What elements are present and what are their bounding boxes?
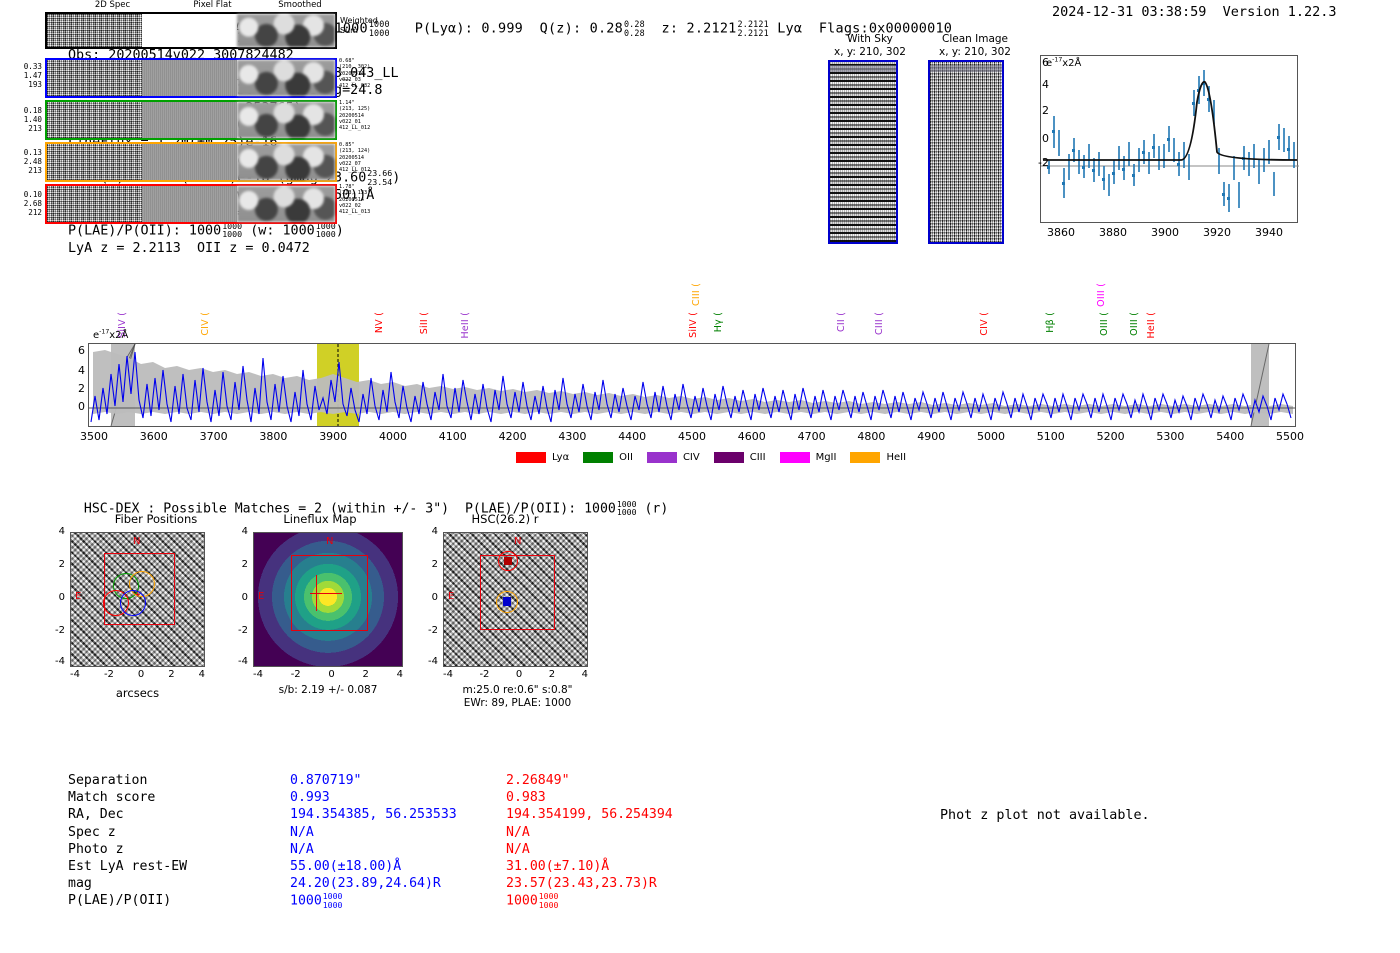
hscdex-header-lo: 1000: [617, 508, 637, 516]
hsc-match-marker-red: [504, 557, 512, 565]
legend-item-mgii: MgII: [780, 452, 837, 463]
mainspec-xtick-5500: 5500: [1265, 430, 1315, 443]
weighted-sum-strip: [45, 12, 337, 49]
hsc-compass-n: N: [514, 536, 521, 547]
hsc-xticks: -4 -2 0 2 4: [443, 669, 588, 680]
zoom-ytick-0: 0: [1027, 132, 1049, 145]
match-table-col-1: 0.870719"0.993194.354385, 56.253533N/AN/…: [290, 772, 457, 910]
header-qz-lo: 0.28: [624, 29, 645, 38]
lineflux-yticks: 4 2 0 -2 -4: [228, 532, 250, 667]
fiber-positions-xticks: -4 -2 0 2 4: [70, 669, 205, 680]
fiber-right-labels-3: 0.85" (213, 124) 20200514 v022_07 412_LL…: [339, 142, 399, 173]
mainspec-xtick-5000: 5000: [966, 430, 1016, 443]
emission-line-label-heii-4: HeII (: [460, 312, 471, 339]
line-fit-plot: e-17x2Å: [1040, 55, 1298, 223]
match-table-col-2: 2.26849"0.983194.354199, 56.254394N/AN/A…: [506, 772, 673, 910]
hsc-caption-2: EWr: 89, PLAE: 1000: [430, 697, 605, 709]
match-table-value: N/A: [290, 841, 457, 858]
match-plae-lo: 1000: [323, 901, 343, 909]
fiber-left-labels-4: 0.10 2.68 212: [2, 190, 42, 217]
header-z-lo: 2.2121: [737, 29, 768, 38]
mainspec-xtick-3600: 3600: [129, 430, 179, 443]
with-sky-title: With Sky x, y: 210, 302: [820, 33, 920, 58]
zoom-ytick-2: 2: [1027, 104, 1049, 117]
zoom-ytick-4: 4: [1027, 78, 1049, 91]
fiber-right-labels-2: 1.14" (213, 125) 20200514 v022_01 412_LL…: [339, 100, 399, 131]
mainspec-xtick-5400: 5400: [1205, 430, 1255, 443]
emission-line-label-oiii-14: OIII (: [1129, 312, 1140, 336]
sky-header-band: [830, 65, 896, 72]
zoom-xtick-3880: 3880: [1093, 226, 1133, 239]
legend-swatch-mgii: [780, 452, 810, 463]
emission-line-label-civ-1: CIV (: [200, 312, 211, 336]
emission-line-label-hβ-11: Hβ (: [1045, 312, 1056, 333]
emission-line-label-civ-10: CIV (: [979, 312, 990, 336]
panel-title-fiber-positions: Fiber Positions: [96, 512, 216, 526]
lineflux-map-image: N E: [253, 532, 403, 667]
fiber-right-labels-1: 0.68" (210, 302) 20200514 v022_03 412_LL…: [339, 58, 399, 89]
match-table-value: 23.57(23.43,23.73)R: [506, 875, 673, 892]
target-marker: +: [135, 590, 140, 600]
fiber-left-labels-2: 0.18 1.40 213: [2, 106, 42, 133]
match-table-value: 2.26849": [506, 772, 673, 789]
spectrum-legend: LyαOIICIVCIIIMgIIHeII: [516, 452, 906, 463]
mainspec-xtick-4900: 4900: [906, 430, 956, 443]
legend-swatch-heii: [850, 452, 880, 463]
fiber-strip-3: [45, 142, 337, 182]
mainspec-xtick-4200: 4200: [488, 430, 538, 443]
emission-line-label-siiv-6: SiIV (: [688, 312, 699, 338]
mainspec-xtick-3900: 3900: [308, 430, 358, 443]
weighted-sum-label: Weighted Sum: [340, 16, 400, 36]
emission-line-label-ciii-9: CIII (: [874, 312, 885, 335]
fiber-strip-1: [45, 58, 337, 98]
mainspec-svg: [89, 344, 1295, 426]
match-table-label: RA, Dec: [68, 806, 187, 823]
zoom-ytick--2: -2: [1027, 156, 1049, 169]
mainspec-ytick-2: 2: [67, 382, 85, 395]
mainspec-xtick-5300: 5300: [1145, 430, 1195, 443]
match-table-label: Match score: [68, 789, 187, 806]
two-d-spectrum-panel: 2D Spec Pixel Flat Smoothed Weighted Sum…: [0, 0, 340, 220]
lineflux-compass-e: E: [258, 591, 264, 602]
match-table-value: N/A: [290, 824, 457, 841]
legend-swatch-oii: [583, 452, 613, 463]
zoom-xtick-3920: 3920: [1197, 226, 1237, 239]
legend-label-oii: OII: [619, 452, 633, 463]
panel-title-hsc-r: HSC(26.2) r: [440, 512, 570, 526]
full-spectrum-axes: e-17x2Å 0 2 4 6: [88, 343, 1296, 427]
mainspec-yunit: e-17x2Å: [93, 330, 128, 341]
match-table-value: 194.354385, 56.253533: [290, 806, 457, 823]
legend-item-heii: HeII: [850, 452, 906, 463]
match-table-value: 24.20(23.89,24.64)R: [290, 875, 457, 892]
emission-line-label-ciii-5: CIII (: [691, 283, 702, 306]
legend-label-lyα: Lyα: [552, 452, 569, 463]
info-redshifts: LyA z = 2.2113 OII z = 0.0472: [68, 240, 400, 257]
header-z: z: 2.2121: [662, 21, 737, 37]
zoom-xtick-3940: 3940: [1249, 226, 1289, 239]
mainspec-xtick-3700: 3700: [189, 430, 239, 443]
emission-line-label-nv-2: NV (: [374, 312, 385, 333]
hsc-r-image: N E: [443, 532, 588, 667]
clean-image: [928, 60, 1004, 244]
zoom-xtick-3900: 3900: [1145, 226, 1185, 239]
emission-line-label-cii-8: CII (: [836, 312, 847, 332]
fiber-strip-2: [45, 100, 337, 140]
mainspec-xtick-3500: 3500: [69, 430, 119, 443]
header-qz: Q(z): 0.28: [540, 21, 623, 37]
emission-line-label-heii-15: HeII (: [1146, 312, 1157, 339]
mainspec-xtick-4700: 4700: [787, 430, 837, 443]
info-plae-pre: P(LAE)/P(OII): 1000: [68, 223, 221, 238]
match-table-label: P(LAE)/P(OII): [68, 892, 187, 909]
mainspec-xtick-5100: 5100: [1026, 430, 1076, 443]
fiber-left-labels-3: 0.13 2.48 213: [2, 148, 42, 175]
info-plae: P(LAE)/P(OII): 100010001000 (w: 10001000…: [68, 222, 400, 240]
clean-header-band: [930, 65, 1002, 72]
hsc-yticks: 4 2 0 -2 -4: [418, 532, 440, 667]
match-table-value: 100010001000: [506, 892, 673, 910]
hsc-caption-1: m:25.0 re:0.6" s:0.8": [430, 684, 605, 696]
header-plya: P(Lyα): 0.999: [415, 21, 523, 37]
mainspec-xticks: 3500360037003800390040004100420043004400…: [0, 430, 1400, 450]
lineflux-xticks: -4 -2 0 2 4: [253, 669, 403, 680]
match-table-label: Spec z: [68, 824, 187, 841]
fiber-positions-image: N E +: [70, 532, 205, 667]
info-plae-post: ): [336, 223, 344, 238]
emission-line-label-siiv-0: SiIV (: [117, 312, 128, 338]
mainspec-xtick-4100: 4100: [428, 430, 478, 443]
match-table-value: 55.00(±18.00)Å: [290, 858, 457, 875]
fiber-positions-xlabel: arcsecs: [70, 686, 205, 700]
emission-line-label-siii-3: SiII (: [419, 312, 430, 334]
zoom-ytick-6: 6: [1027, 56, 1049, 69]
match-table-label: Separation: [68, 772, 187, 789]
info-plae-mid: (w: 1000: [250, 223, 315, 238]
mainspec-ytick-0: 0: [67, 400, 85, 413]
mainspec-xtick-4600: 4600: [727, 430, 777, 443]
timestamp: 2024-12-31 03:38:59 Version 1.22.3: [1052, 4, 1336, 20]
match-table-label: Photo z: [68, 841, 187, 858]
match-table-value: 100010001000: [290, 892, 457, 910]
legend-swatch-lyα: [516, 452, 546, 463]
match-table-value: 0.870719": [290, 772, 457, 789]
match-table-value: N/A: [506, 841, 673, 858]
legend-swatch-ciii: [714, 452, 744, 463]
zoom-xtick-3860: 3860: [1041, 226, 1081, 239]
mainspec-xtick-4000: 4000: [368, 430, 418, 443]
clean-image-title: Clean Image x, y: 210, 302: [920, 33, 1030, 58]
match-table-value: 0.993: [290, 789, 457, 806]
fiber-left-labels: 0.33 1.47 193: [2, 62, 42, 89]
emission-line-label-oiii-13: OIII (: [1099, 312, 1110, 336]
fiber-circle-blue: [120, 590, 146, 616]
match-table-label: mag: [68, 875, 187, 892]
hsc-compass-e: E: [448, 591, 454, 602]
panel-title-lineflux-map: Lineflux Map: [255, 512, 385, 526]
match-plae-lo: 1000: [539, 901, 559, 909]
lineflux-caption: s/b: 2.19 +/- 0.087: [253, 684, 403, 696]
lineflux-compass-n: N: [326, 536, 333, 547]
match-table-value: 0.983: [506, 789, 673, 806]
mainspec-xtick-4500: 4500: [667, 430, 717, 443]
match-table-value: 194.354199, 56.254394: [506, 806, 673, 823]
match-plae-value: 1000: [506, 894, 538, 909]
legend-label-heii: HeII: [886, 452, 906, 463]
legend-label-mgii: MgII: [816, 452, 837, 463]
emission-line-label-oiii-12: OIII (: [1096, 283, 1107, 307]
compass-n-label: N: [133, 536, 140, 547]
hscdex-header-post: (r): [644, 501, 668, 516]
legend-item-oii: OII: [583, 452, 633, 463]
hsc-match-marker-blue: [503, 597, 511, 606]
with-sky-image: [828, 60, 898, 244]
legend-item-lyα: Lyα: [516, 452, 569, 463]
header-z-type: Lyα: [777, 21, 802, 37]
fiber-right-labels-4: 1.78" (213, 133) 20200514 v022_02 412_LL…: [339, 184, 399, 215]
lineflux-crosshair-h: [310, 593, 342, 594]
emission-line-label-hγ-7: Hγ (: [713, 312, 724, 332]
mainspec-ytick-4: 4: [67, 364, 85, 377]
mainspec-xtick-4300: 4300: [547, 430, 597, 443]
legend-item-civ: CIV: [647, 452, 700, 463]
mainspec-xtick-4400: 4400: [607, 430, 657, 443]
fiber-strip-4: [45, 184, 337, 224]
legend-label-civ: CIV: [683, 452, 700, 463]
match-table-value: N/A: [506, 824, 673, 841]
legend-swatch-civ: [647, 452, 677, 463]
photz-message: Phot z plot not available.: [940, 808, 1150, 823]
match-table-label: Est LyA rest-EW: [68, 858, 187, 875]
match-table-row-labels: SeparationMatch scoreRA, DecSpec zPhoto …: [68, 772, 187, 910]
mainspec-xtick-4800: 4800: [846, 430, 896, 443]
mainspec-xtick-5200: 5200: [1086, 430, 1136, 443]
mainspec-xtick-3800: 3800: [248, 430, 298, 443]
fiber-positions-yticks: 4 2 0 -2 -4: [45, 532, 67, 667]
panel-title-smoothed: Smoothed: [245, 0, 355, 10]
legend-item-ciii: CIII: [714, 452, 766, 463]
match-plae-value: 1000: [290, 894, 322, 909]
info-plae-w-lo: 1000: [316, 230, 336, 238]
mainspec-ytick-6: 6: [67, 344, 85, 357]
compass-e-label: E: [75, 591, 81, 602]
zoom-plot-svg: [1041, 56, 1299, 224]
info-plae-lo: 1000: [222, 230, 242, 238]
hsc-fov-box: [480, 555, 555, 630]
match-table-value: 31.00(±7.10)Å: [506, 858, 673, 875]
legend-label-ciii: CIII: [750, 452, 766, 463]
